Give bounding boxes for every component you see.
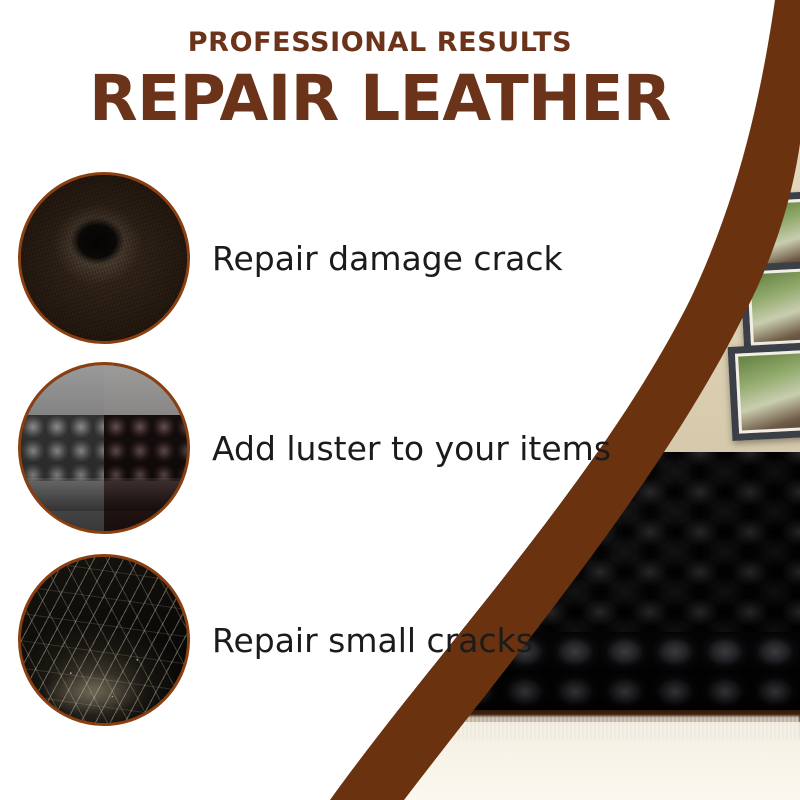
sofa-after-half <box>104 365 187 531</box>
feature-label-2: Add luster to your items <box>212 429 611 468</box>
feature-row-2: Add luster to your items <box>18 361 618 535</box>
page-title: REPAIR LEATHER <box>0 66 760 132</box>
wall-picture-frame-3 <box>728 341 800 441</box>
before-after-split <box>21 365 187 531</box>
cracked-black-leather-photo <box>18 554 190 726</box>
sofa-before-half <box>21 365 104 531</box>
before-sofa-cushion <box>21 478 104 511</box>
after-sofa-cushion <box>104 478 187 511</box>
leather-repair-poster: PROFESSIONAL RESULTS REPAIR LEATHER Repa… <box>0 0 800 800</box>
black-leather-crack-texture <box>21 557 187 723</box>
feature-row-3: Repair small cracks <box>18 553 618 727</box>
feature-row-1: Repair damage crack <box>18 171 618 345</box>
after-sofa-tufting <box>104 415 187 481</box>
kicker-text: PROFESSIONAL RESULTS <box>0 27 760 58</box>
feature-label-1: Repair damage crack <box>212 239 563 278</box>
before-after-sofa-photo <box>18 362 190 534</box>
before-sofa-tufting <box>21 415 104 481</box>
leather-hole-texture <box>21 175 187 341</box>
damaged-leather-hole-photo <box>18 172 190 344</box>
feature-label-3: Repair small cracks <box>212 621 533 660</box>
